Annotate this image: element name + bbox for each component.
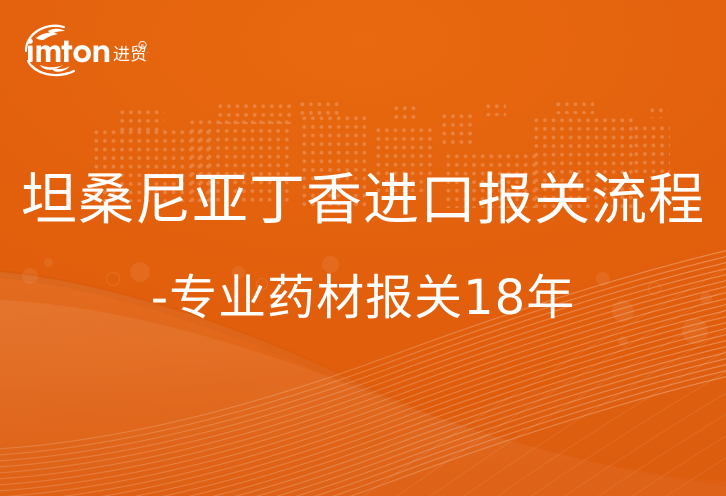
page-title: 坦桑尼亚丁香进口报关流程 [0, 164, 726, 238]
headline-block: 坦桑尼亚丁香进口报关流程 -专业药材报关18年 [0, 164, 726, 336]
brand-logo[interactable]: 进贸通 R [18, 21, 148, 79]
page-subtitle: -专业药材报关18年 [0, 260, 726, 336]
promo-banner: 进贸通 R 坦桑尼亚丁香进口报关流程 -专业药材报关18年 [0, 0, 726, 496]
